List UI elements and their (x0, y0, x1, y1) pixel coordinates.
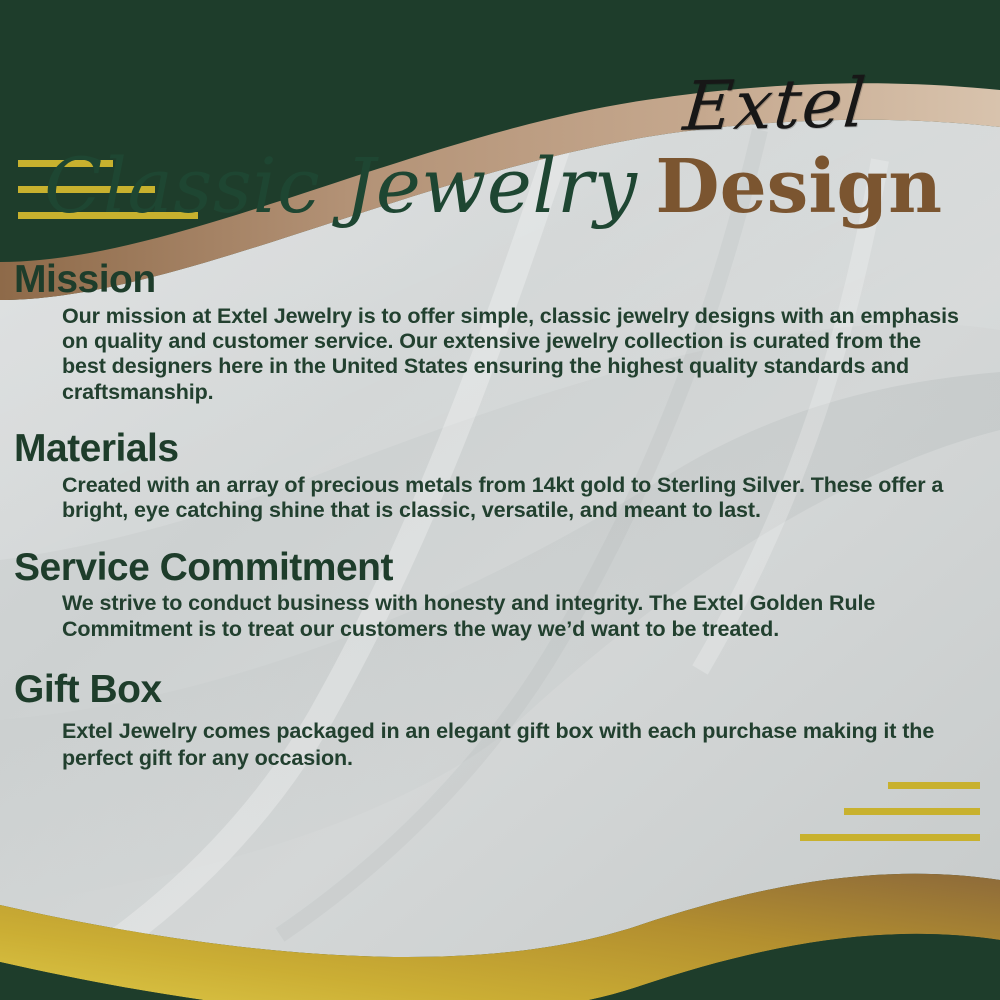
title-primary: Classic Jewelry (44, 148, 637, 224)
section-body: Created with an array of precious metals… (62, 473, 966, 524)
section-body: Extel Jewelry comes packaged in an elega… (62, 718, 966, 773)
poster-canvas: Extel Classic Jewelry Design Mission Our… (0, 0, 1000, 1000)
section-gift-box: Gift Box Extel Jewelry comes packaged in… (0, 668, 1000, 773)
section-service-commitment: Service Commitment We strive to conduct … (0, 546, 1000, 642)
section-heading: Mission (14, 258, 1000, 302)
poster-content: Extel Classic Jewelry Design Mission Our… (0, 0, 1000, 1000)
section-materials: Materials Created with an array of preci… (0, 427, 1000, 523)
poster-title: Classic Jewelry Design (0, 148, 1000, 256)
brand-script-logo: Extel (607, 69, 943, 144)
section-body: Our mission at Extel Jewelry is to offer… (62, 304, 966, 405)
section-heading: Gift Box (14, 668, 1000, 712)
sections-list: Mission Our mission at Extel Jewelry is … (0, 258, 1000, 789)
section-heading: Materials (14, 427, 1000, 471)
title-secondary: Design (655, 150, 942, 224)
section-heading: Service Commitment (14, 546, 1000, 590)
section-body: We strive to conduct business with hones… (62, 591, 966, 642)
section-mission: Mission Our mission at Extel Jewelry is … (0, 258, 1000, 405)
